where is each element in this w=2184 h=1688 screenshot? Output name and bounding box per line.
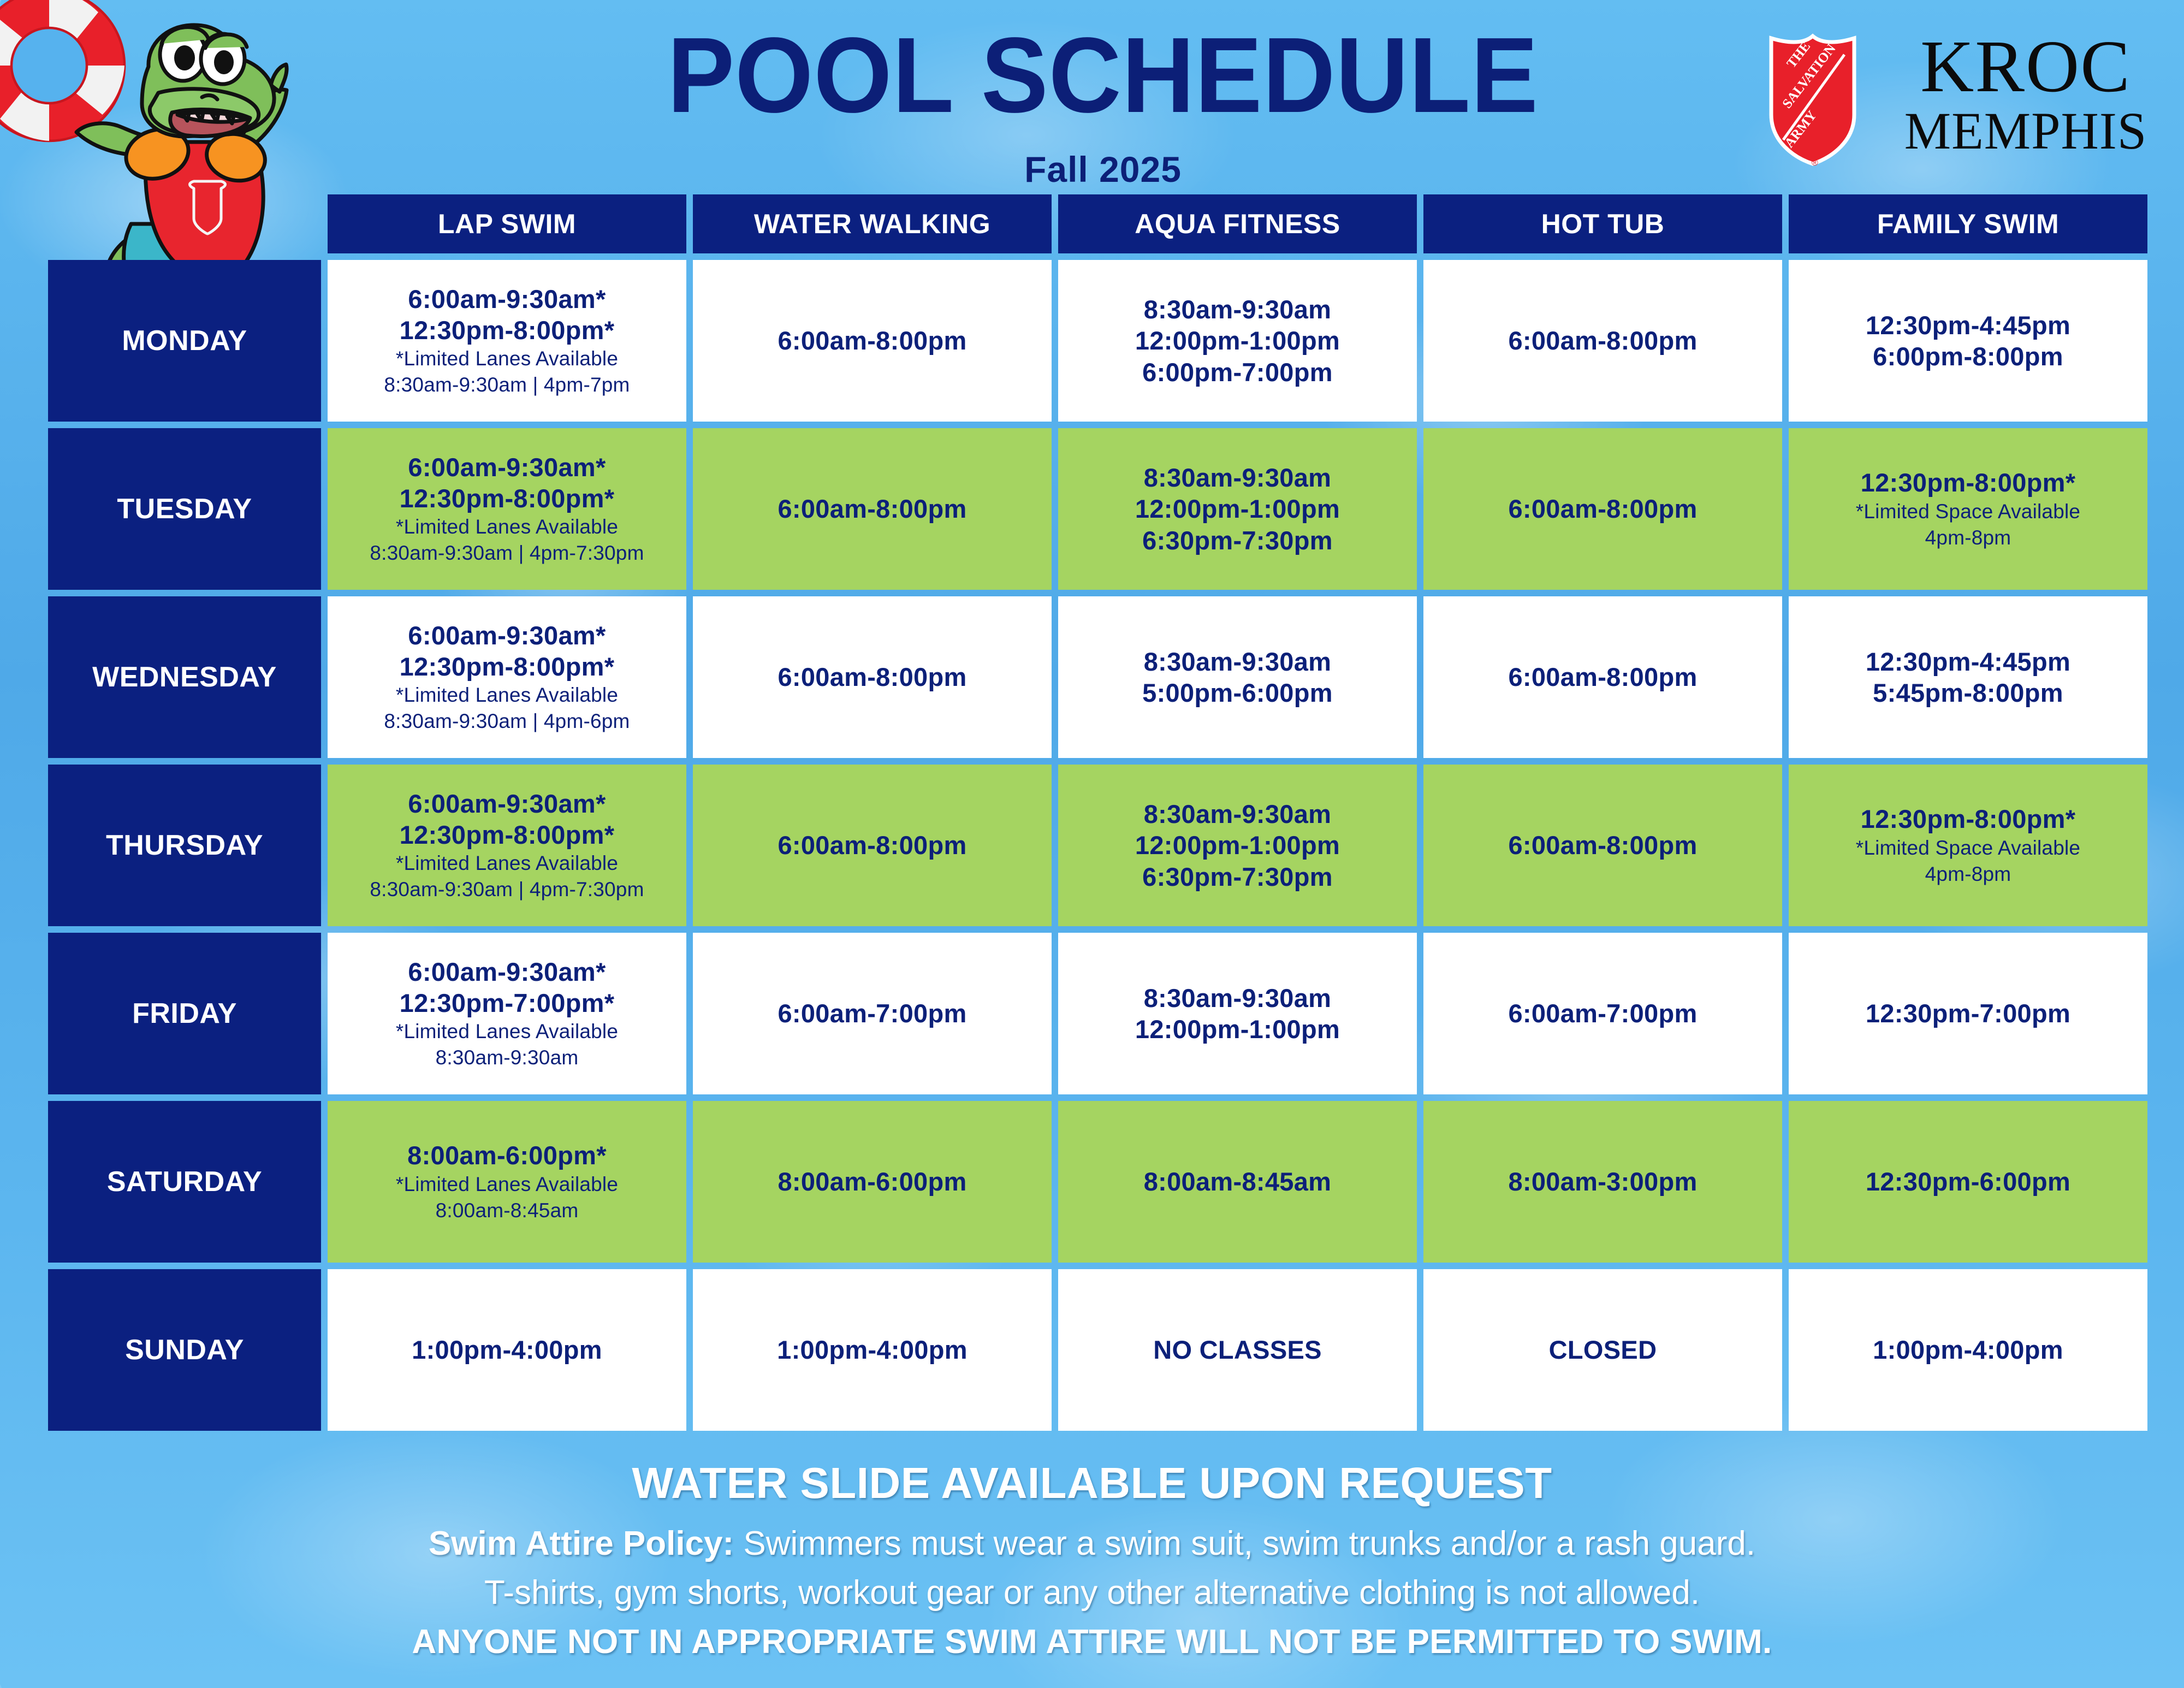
schedule-cell-thursday-aqua-fitness: 8:30am-9:30am12:00pm-1:00pm6:30pm-7:30pm — [1058, 765, 1417, 926]
schedule-cell-tuesday-lap-swim: 6:00am-9:30am*12:30pm-8:00pm**Limited La… — [328, 428, 686, 590]
cell-time: 6:30pm-7:30pm — [1142, 525, 1333, 556]
water-slide-notice: WATER SLIDE AVAILABLE UPON REQUEST — [0, 1459, 2184, 1507]
page-subtitle: Fall 2025 — [568, 149, 1638, 190]
cell-note: 8:30am-9:30am | 4pm-6pm — [384, 708, 630, 735]
swim-attire-policy-line-1: Swim Attire Policy: Swimmers must wear a… — [0, 1519, 2184, 1568]
schedule-cell-wednesday-water-walking: 6:00am-8:00pm — [693, 596, 1052, 758]
cell-time: NO CLASSES — [1153, 1334, 1322, 1365]
cell-time: 6:00am-8:00pm — [778, 493, 966, 524]
cell-time: 12:30pm-8:00pm* — [400, 315, 615, 346]
cell-note: 8:00am-8:45am — [436, 1198, 579, 1224]
table-row: THURSDAY6:00am-9:30am*12:30pm-8:00pm**Li… — [48, 765, 2147, 926]
cell-time: 6:00am-8:00pm — [778, 325, 966, 356]
cell-time: 12:00pm-1:00pm — [1135, 493, 1340, 524]
cell-time: 6:00am-8:00pm — [778, 661, 966, 692]
cell-time: 5:00pm-6:00pm — [1142, 677, 1333, 708]
schedule-cell-sunday-aqua-fitness: NO CLASSES — [1058, 1269, 1417, 1431]
schedule-cell-saturday-water-walking: 8:00am-6:00pm — [693, 1101, 1052, 1263]
schedule-cell-monday-family-swim: 12:30pm-4:45pm6:00pm-8:00pm — [1789, 260, 2147, 422]
swim-attire-policy-label: Swim Attire Policy: — [429, 1525, 734, 1562]
schedule-cell-friday-lap-swim: 6:00am-9:30am*12:30pm-7:00pm**Limited La… — [328, 933, 686, 1094]
day-label-tuesday: TUESDAY — [48, 428, 321, 590]
cell-time: 6:00am-8:00pm — [1508, 325, 1697, 356]
cell-time: 8:30am-9:30am — [1144, 462, 1332, 493]
cell-time: 6:00am-7:00pm — [1508, 998, 1697, 1029]
schedule-cell-tuesday-water-walking: 6:00am-8:00pm — [693, 428, 1052, 590]
schedule-cell-thursday-lap-swim: 6:00am-9:30am*12:30pm-8:00pm**Limited La… — [328, 765, 686, 926]
corner-spacer — [48, 194, 321, 253]
schedule-cell-monday-water-walking: 6:00am-8:00pm — [693, 260, 1052, 422]
cell-time: 6:00am-9:30am* — [408, 283, 606, 315]
cell-note: *Limited Lanes Available — [396, 514, 618, 540]
cell-time: 12:00pm-1:00pm — [1135, 830, 1340, 861]
cell-time: 8:30am-9:30am — [1144, 646, 1332, 677]
cell-note: 4pm-8pm — [1925, 525, 2011, 551]
day-label-sunday: SUNDAY — [48, 1269, 321, 1431]
schedule-cell-wednesday-hot-tub: 6:00am-8:00pm — [1423, 596, 1782, 758]
cell-time: 5:45pm-8:00pm — [1873, 677, 2063, 708]
registered-mark: ® — [1812, 158, 1818, 167]
cell-time: 12:00pm-1:00pm — [1135, 325, 1340, 356]
swim-attire-policy-line-3: ANYONE NOT IN APPROPRIATE SWIM ATTIRE WI… — [0, 1618, 2184, 1667]
cell-note: *Limited Space Available — [1856, 499, 2080, 525]
schedule-cell-saturday-aqua-fitness: 8:00am-8:45am — [1058, 1101, 1417, 1263]
table-row: MONDAY6:00am-9:30am*12:30pm-8:00pm**Limi… — [48, 260, 2147, 422]
cell-time: 12:30pm-4:45pm — [1866, 310, 2070, 341]
cell-time: 6:00am-9:30am* — [408, 956, 606, 987]
cell-time: 8:00am-3:00pm — [1508, 1166, 1697, 1197]
schedule-cell-sunday-water-walking: 1:00pm-4:00pm — [693, 1269, 1052, 1431]
table-row: SATURDAY8:00am-6:00pm**Limited Lanes Ava… — [48, 1101, 2147, 1263]
schedule-cell-tuesday-aqua-fitness: 8:30am-9:30am12:00pm-1:00pm6:30pm-7:30pm — [1058, 428, 1417, 590]
salvation-army-shield-icon: THE SALVATION ARMY ® — [1758, 33, 1867, 167]
cell-time: 8:00am-8:45am — [1144, 1166, 1332, 1197]
cell-time: 6:00am-7:00pm — [778, 998, 966, 1029]
day-label-monday: MONDAY — [48, 260, 321, 422]
cell-time: 8:00am-6:00pm* — [407, 1140, 607, 1171]
schedule-cell-monday-aqua-fitness: 8:30am-9:30am12:00pm-1:00pm6:00pm-7:00pm — [1058, 260, 1417, 422]
cell-time: 12:30pm-8:00pm* — [400, 651, 615, 682]
cell-time: 12:30pm-4:45pm — [1866, 646, 2070, 677]
cell-time: 12:30pm-8:00pm* — [400, 483, 615, 514]
cell-time: 6:00am-9:30am* — [408, 452, 606, 483]
schedule-cell-thursday-family-swim: 12:30pm-8:00pm**Limited Space Available4… — [1789, 765, 2147, 926]
swim-attire-policy-line-2: T-shirts, gym shorts, workout gear or an… — [0, 1568, 2184, 1618]
column-header-lap-swim: LAP SWIM — [328, 194, 686, 253]
column-header-water-walking: WATER WALKING — [693, 194, 1052, 253]
page-title: POOL SCHEDULE — [600, 22, 1606, 129]
cell-note: *Limited Lanes Available — [396, 346, 618, 372]
day-label-thursday: THURSDAY — [48, 765, 321, 926]
day-label-wednesday: WEDNESDAY — [48, 596, 321, 758]
cell-note: *Limited Lanes Available — [396, 1018, 618, 1045]
cell-time: 12:30pm-7:00pm — [1866, 998, 2070, 1029]
schedule-cell-thursday-hot-tub: 6:00am-8:00pm — [1423, 765, 1782, 926]
cell-time: 6:00am-8:00pm — [1508, 493, 1697, 524]
cell-time: 6:00am-8:00pm — [1508, 830, 1697, 861]
cell-note: 8:30am-9:30am | 4pm-7:30pm — [370, 876, 644, 903]
cell-time: 6:00am-9:30am* — [408, 788, 606, 819]
schedule-cell-friday-hot-tub: 6:00am-7:00pm — [1423, 933, 1782, 1094]
cell-note: *Limited Lanes Available — [396, 682, 618, 708]
column-header-aqua-fitness: AQUA FITNESS — [1058, 194, 1417, 253]
cell-note: *Limited Lanes Available — [396, 1171, 618, 1198]
cell-time: 12:30pm-8:00pm* — [400, 819, 615, 850]
schedule-cell-wednesday-lap-swim: 6:00am-9:30am*12:30pm-8:00pm**Limited La… — [328, 596, 686, 758]
swim-attire-policy-text: Swimmers must wear a swim suit, swim tru… — [734, 1525, 1755, 1562]
cell-note: *Limited Lanes Available — [396, 850, 618, 876]
table-row: FRIDAY6:00am-9:30am*12:30pm-7:00pm**Limi… — [48, 933, 2147, 1094]
table-header-row: LAP SWIMWATER WALKINGAQUA FITNESSHOT TUB… — [48, 194, 2147, 253]
day-label-friday: FRIDAY — [48, 933, 321, 1094]
cell-time: 1:00pm-4:00pm — [1873, 1334, 2063, 1365]
cell-time: 1:00pm-4:00pm — [412, 1334, 602, 1365]
table-row: SUNDAY1:00pm-4:00pm1:00pm-4:00pmNO CLASS… — [48, 1269, 2147, 1431]
cell-time: 1:00pm-4:00pm — [777, 1334, 968, 1365]
schedule-cell-monday-lap-swim: 6:00am-9:30am*12:30pm-8:00pm**Limited La… — [328, 260, 686, 422]
cell-time: 12:30pm-6:00pm — [1866, 1166, 2070, 1197]
cell-note: 8:30am-9:30am | 4pm-7:30pm — [370, 540, 644, 566]
kroc-memphis-logo: THE SALVATION ARMY ® KROC MEMPHIS — [1665, 10, 2168, 174]
table-row: TUESDAY6:00am-9:30am*12:30pm-8:00pm**Lim… — [48, 428, 2147, 590]
pool-schedule-poster: POOL SCHEDULE Fall 2025 THE SALVATION AR… — [0, 0, 2184, 1688]
schedule-cell-monday-hot-tub: 6:00am-8:00pm — [1423, 260, 1782, 422]
cell-time: 12:00pm-1:00pm — [1135, 1014, 1340, 1045]
cell-time: 6:00pm-7:00pm — [1142, 357, 1333, 388]
schedule-cell-wednesday-aqua-fitness: 8:30am-9:30am5:00pm-6:00pm — [1058, 596, 1417, 758]
cell-time: 6:30pm-7:30pm — [1142, 861, 1333, 892]
cell-time: 8:00am-6:00pm — [778, 1166, 966, 1197]
poster-header: POOL SCHEDULE Fall 2025 THE SALVATION AR… — [0, 0, 2184, 197]
cell-time: CLOSED — [1549, 1334, 1657, 1365]
kroc-line-2: MEMPHIS — [1889, 104, 2162, 159]
cell-time: 6:00am-8:00pm — [778, 830, 966, 861]
schedule-cell-tuesday-hot-tub: 6:00am-8:00pm — [1423, 428, 1782, 590]
cell-time: 8:30am-9:30am — [1144, 294, 1332, 325]
cell-time: 6:00am-8:00pm — [1508, 661, 1697, 692]
schedule-cell-tuesday-family-swim: 12:30pm-8:00pm**Limited Space Available4… — [1789, 428, 2147, 590]
cell-note: 8:30am-9:30am — [436, 1045, 579, 1071]
cell-time: 8:30am-9:30am — [1144, 798, 1332, 830]
cell-note: *Limited Space Available — [1856, 835, 2080, 861]
cell-time: 12:30pm-8:00pm* — [1861, 803, 2076, 834]
schedule-cell-wednesday-family-swim: 12:30pm-4:45pm5:45pm-8:00pm — [1789, 596, 2147, 758]
column-header-hot-tub: HOT TUB — [1423, 194, 1782, 253]
kroc-line-1: KROC — [1889, 29, 2162, 104]
schedule-cell-thursday-water-walking: 6:00am-8:00pm — [693, 765, 1052, 926]
cell-note: 8:30am-9:30am | 4pm-7pm — [384, 372, 630, 398]
cell-time: 6:00am-9:30am* — [408, 620, 606, 651]
schedule-table: LAP SWIMWATER WALKINGAQUA FITNESSHOT TUB… — [48, 194, 2147, 1437]
schedule-cell-saturday-hot-tub: 8:00am-3:00pm — [1423, 1101, 1782, 1263]
day-label-saturday: SATURDAY — [48, 1101, 321, 1263]
schedule-cell-sunday-lap-swim: 1:00pm-4:00pm — [328, 1269, 686, 1431]
cell-time: 6:00pm-8:00pm — [1873, 341, 2063, 372]
cell-time: 8:30am-9:30am — [1144, 982, 1332, 1014]
kroc-wordmark: KROC MEMPHIS — [1889, 29, 2162, 159]
cell-time: 12:30pm-7:00pm* — [400, 987, 615, 1018]
cell-time: 12:30pm-8:00pm* — [1861, 467, 2076, 498]
table-row: WEDNESDAY6:00am-9:30am*12:30pm-8:00pm**L… — [48, 596, 2147, 758]
column-header-family-swim: FAMILY SWIM — [1789, 194, 2147, 253]
schedule-cell-sunday-family-swim: 1:00pm-4:00pm — [1789, 1269, 2147, 1431]
schedule-cell-saturday-family-swim: 12:30pm-6:00pm — [1789, 1101, 2147, 1263]
cell-note: 4pm-8pm — [1925, 861, 2011, 887]
schedule-cell-sunday-hot-tub: CLOSED — [1423, 1269, 1782, 1431]
schedule-cell-friday-family-swim: 12:30pm-7:00pm — [1789, 933, 2147, 1094]
schedule-cell-saturday-lap-swim: 8:00am-6:00pm**Limited Lanes Available8:… — [328, 1101, 686, 1263]
schedule-cell-friday-aqua-fitness: 8:30am-9:30am12:00pm-1:00pm — [1058, 933, 1417, 1094]
poster-footer: WATER SLIDE AVAILABLE UPON REQUEST Swim … — [0, 1459, 2184, 1667]
schedule-cell-friday-water-walking: 6:00am-7:00pm — [693, 933, 1052, 1094]
